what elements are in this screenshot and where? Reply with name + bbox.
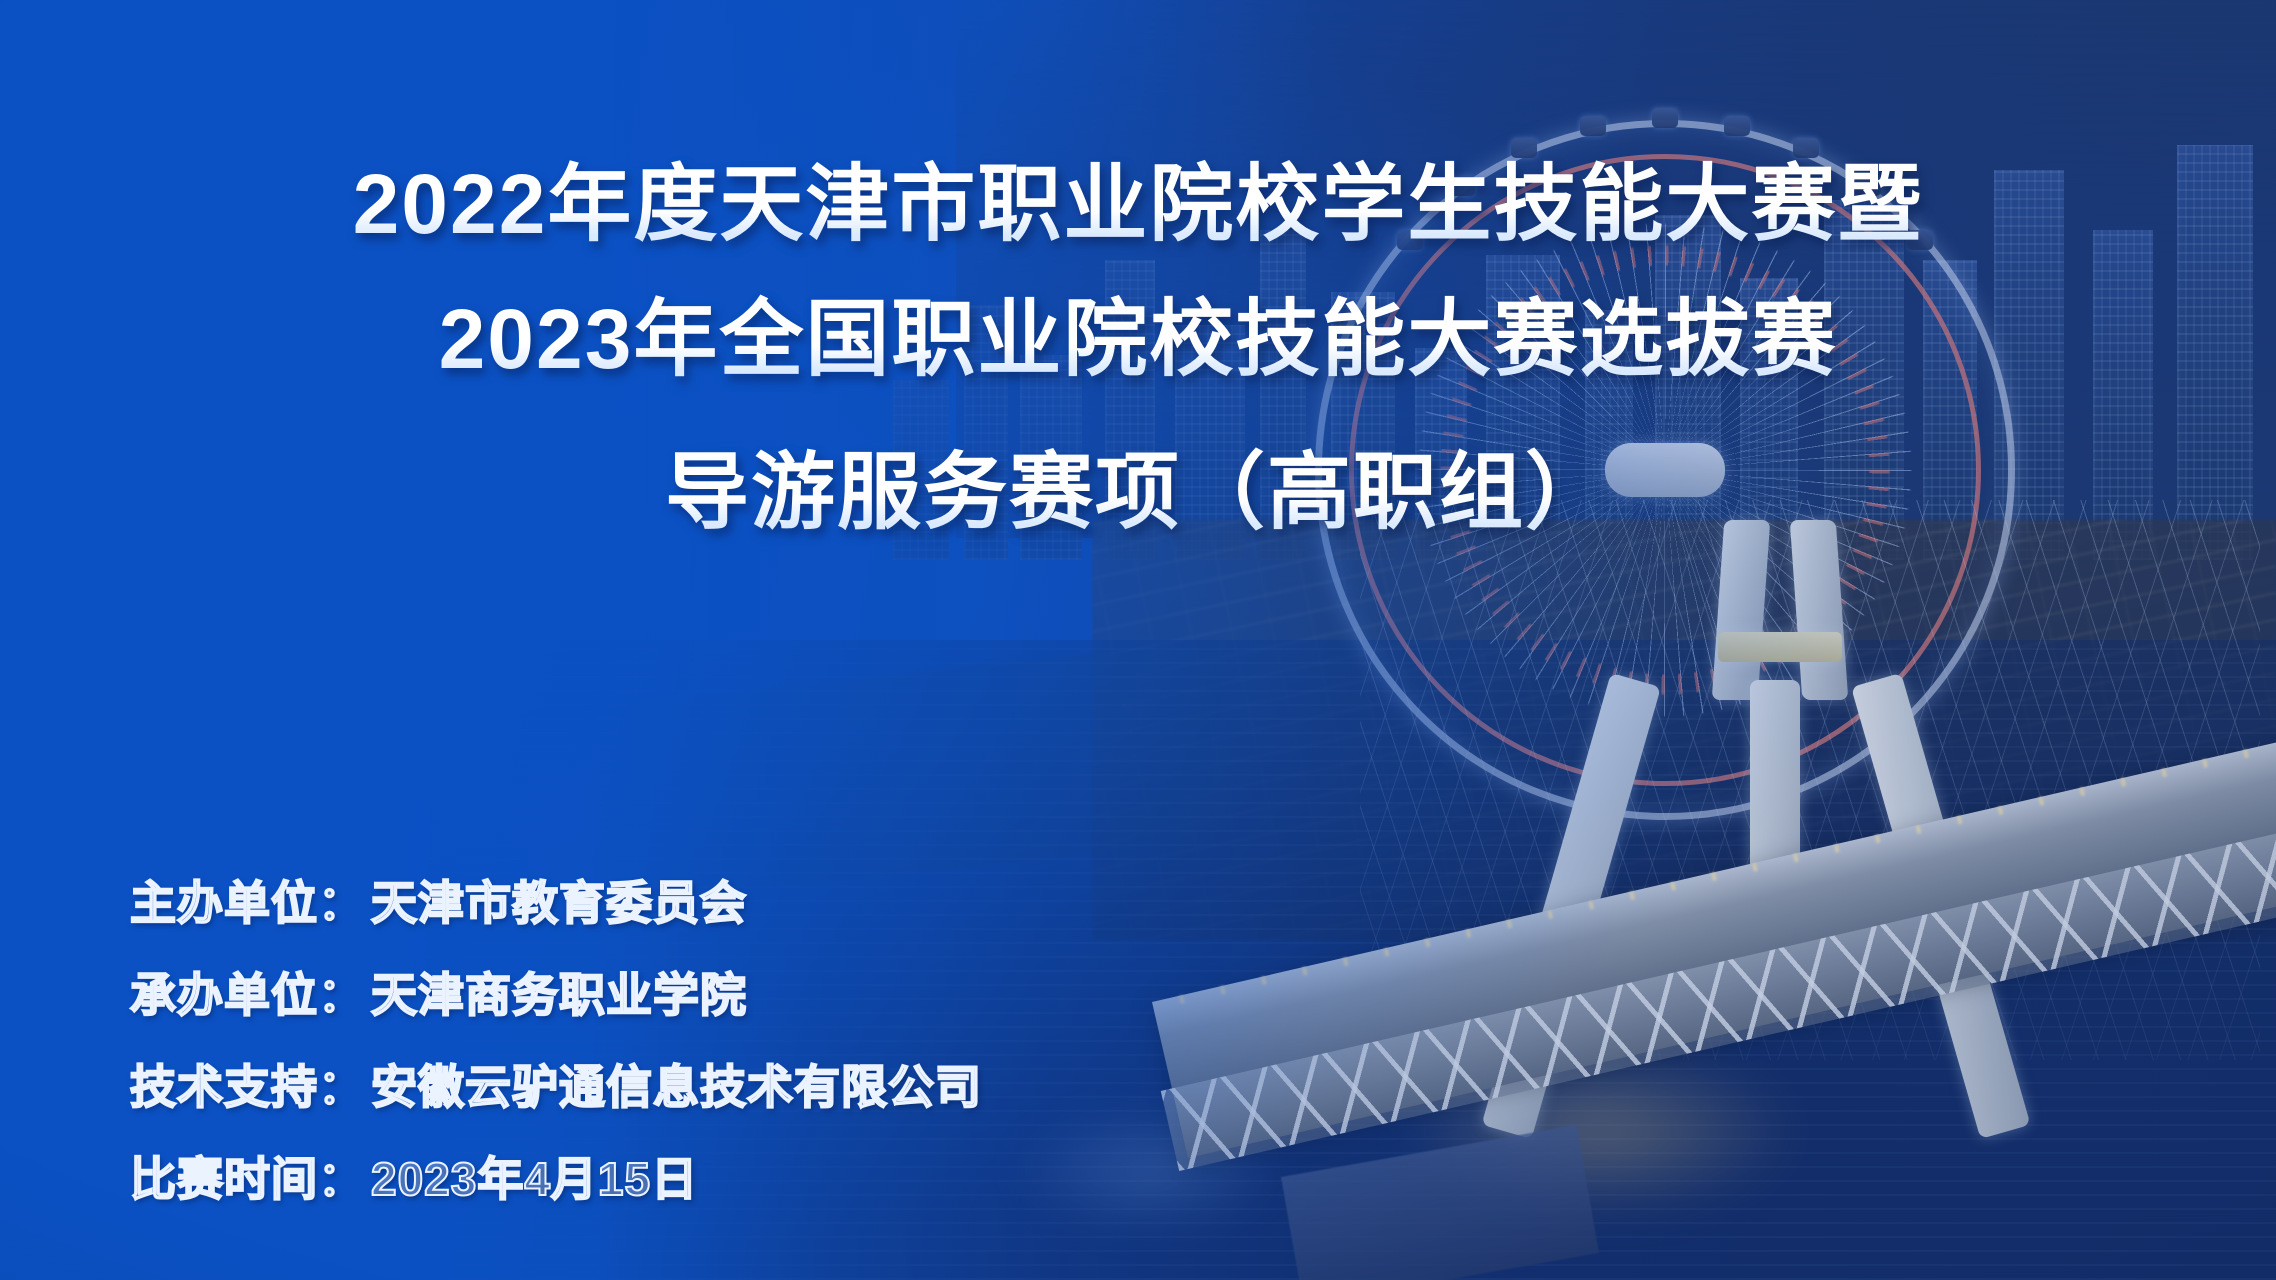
info-organizer-label: 主办单位： [130, 877, 365, 929]
info-tech-support: 技术支持：安徽云驴通信息技术有限公司 [130, 1064, 982, 1110]
poster-content: 2022年度天津市职业院校学生技能大赛暨 2023年全国职业院校技能大赛选拔赛 … [0, 0, 2276, 1280]
info-host: 承办单位：天津商务职业学院 [130, 972, 982, 1018]
info-block: 主办单位：天津市教育委员会 承办单位：天津商务职业学院 技术支持：安徽云驴通信息… [130, 880, 982, 1202]
poster-canvas: 2022年度天津市职业院校学生技能大赛暨 2023年全国职业院校技能大赛选拔赛 … [0, 0, 2276, 1280]
title-block: 2022年度天津市职业院校学生技能大赛暨 2023年全国职业院校技能大赛选拔赛 … [0, 150, 2276, 548]
info-organizer: 主办单位：天津市教育委员会 [130, 880, 982, 926]
info-organizer-value: 天津市教育委员会 [371, 877, 747, 929]
info-host-value: 天津商务职业学院 [371, 969, 747, 1021]
info-date-value: 2023年4月15日 [371, 1153, 698, 1205]
info-tech-support-label: 技术支持： [130, 1061, 365, 1113]
info-date-label: 比赛时间： [130, 1153, 365, 1205]
title-line-1: 2022年度天津市职业院校学生技能大赛暨 [0, 150, 2276, 259]
info-host-label: 承办单位： [130, 969, 365, 1021]
title-line-2: 2023年全国职业院校技能大赛选拔赛 [0, 285, 2276, 394]
title-line-3: 导游服务赛项（高职组） [0, 438, 2276, 547]
info-date: 比赛时间：2023年4月15日 [130, 1156, 982, 1202]
info-tech-support-value: 安徽云驴通信息技术有限公司 [371, 1061, 982, 1113]
